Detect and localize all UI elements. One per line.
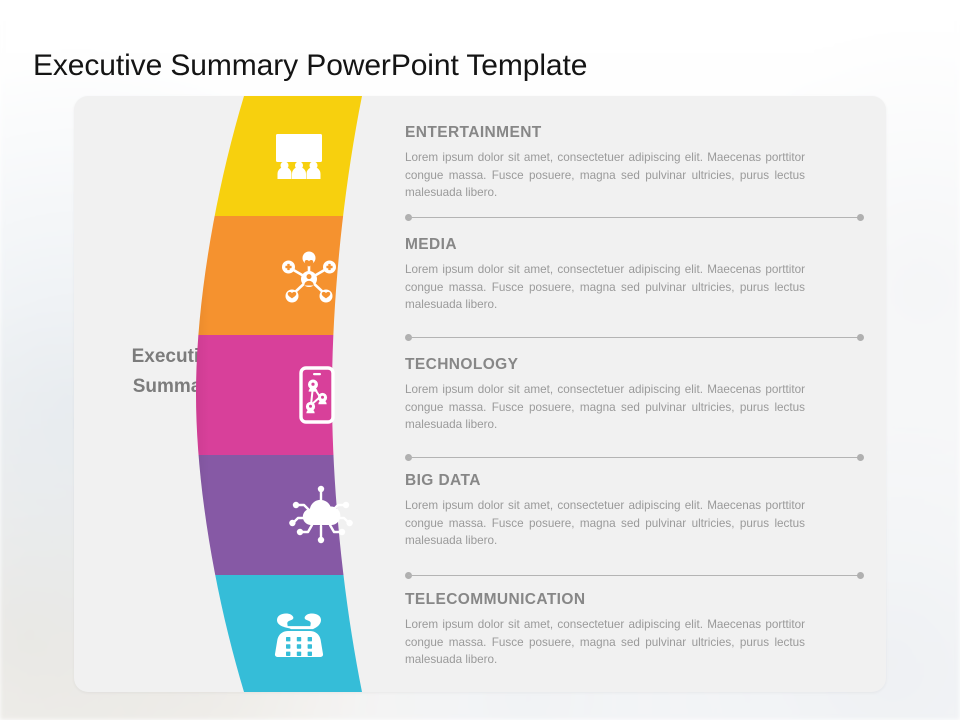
section-body: Lorem ipsum dolor sit amet, consectetuer… (405, 149, 805, 202)
ribbon-bands (166, 96, 406, 692)
section-divider-4 (405, 572, 864, 579)
divider-rule (408, 575, 861, 576)
section-media: MEDIA Lorem ipsum dolor sit amet, consec… (405, 236, 886, 314)
ribbon-edge-shading (166, 96, 406, 692)
section-body: Lorem ipsum dolor sit amet, consectetuer… (405, 261, 805, 314)
divider-dot-right (857, 214, 864, 221)
section-body: Lorem ipsum dolor sit amet, consectetuer… (405, 381, 805, 434)
section-divider-2 (405, 334, 864, 341)
section-telecommunication: TELECOMMUNICATION Lorem ipsum dolor sit … (405, 591, 886, 669)
section-divider-1 (405, 214, 864, 221)
section-body: Lorem ipsum dolor sit amet, consectetuer… (405, 616, 805, 669)
section-divider-3 (405, 454, 864, 461)
ribbon-svg (166, 96, 406, 692)
section-entertainment: ENTERTAINMENT Lorem ipsum dolor sit amet… (405, 124, 886, 202)
section-title: TECHNOLOGY (405, 356, 886, 374)
slide-card: Executive Summary (74, 96, 886, 692)
section-title: MEDIA (405, 236, 886, 254)
section-title: ENTERTAINMENT (405, 124, 886, 142)
divider-dot-right (857, 572, 864, 579)
divider-rule (408, 217, 861, 218)
section-technology: TECHNOLOGY Lorem ipsum dolor sit amet, c… (405, 356, 886, 434)
section-title: TELECOMMUNICATION (405, 591, 886, 609)
section-body: Lorem ipsum dolor sit amet, consectetuer… (405, 497, 805, 550)
divider-rule (408, 457, 861, 458)
section-title: BIG DATA (405, 472, 886, 490)
color-ribbon (166, 96, 406, 692)
divider-rule (408, 337, 861, 338)
page-title: Executive Summary PowerPoint Template (33, 47, 587, 85)
section-big-data: BIG DATA Lorem ipsum dolor sit amet, con… (405, 472, 886, 550)
sections-column: ENTERTAINMENT Lorem ipsum dolor sit amet… (405, 96, 886, 692)
divider-dot-right (857, 454, 864, 461)
divider-dot-right (857, 334, 864, 341)
